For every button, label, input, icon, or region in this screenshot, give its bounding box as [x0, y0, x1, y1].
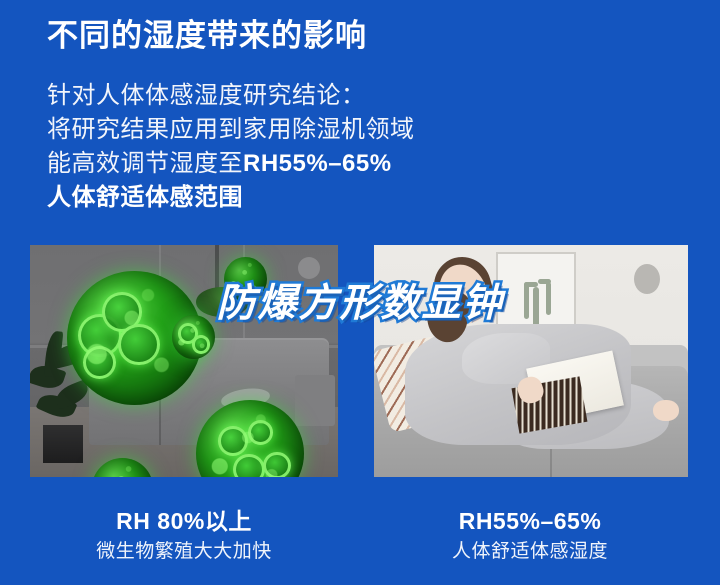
- wall-knob: [634, 264, 660, 294]
- lead-line-1: 针对人体体感湿度研究结论：: [47, 79, 477, 113]
- microbe-sphere: [224, 257, 267, 301]
- lead-line-2: 将研究结果应用到家用除湿机领域: [47, 113, 477, 147]
- microbe-cell: [233, 454, 265, 477]
- microbe-cell: [218, 426, 248, 455]
- microbe-sphere: [172, 315, 215, 359]
- caption-sub-label: 人体舒适体感湿度: [370, 539, 690, 565]
- caption-sub-label: 微生物繁殖大大加快: [24, 539, 344, 565]
- caption-main-label: RH55%–65%: [370, 506, 690, 536]
- microbe-cell: [178, 323, 199, 344]
- photo-row: [0, 245, 720, 477]
- microbe-cell: [102, 292, 142, 332]
- living-room-gray-scene: [30, 245, 338, 477]
- microbe-cell: [78, 314, 122, 358]
- microbe-cell: [83, 346, 116, 379]
- microbe-sphere: [196, 400, 304, 477]
- caption-high-humidity: RH 80%以上 微生物繁殖大大加快: [24, 506, 344, 565]
- wall-knob: [298, 257, 320, 279]
- microbe-sphere: [92, 458, 154, 477]
- microbe-cell: [118, 324, 159, 365]
- page-title: 不同的湿度带来的影响: [47, 17, 367, 55]
- cactus-arm: [524, 282, 529, 319]
- person-foot: [653, 400, 678, 421]
- humidity-infographic-poster: 不同的湿度带来的影响 针对人体体感湿度研究结论： 将研究结果应用到家用除湿机领域…: [0, 0, 720, 585]
- living-room-bright-scene: [374, 245, 688, 477]
- microbe-cell: [192, 335, 211, 354]
- photo-comfort-humidity: [374, 245, 688, 477]
- cactus-arm: [546, 282, 551, 315]
- cactus-arm: [538, 279, 552, 284]
- microbe-cell: [248, 420, 273, 445]
- lead-paragraph: 针对人体体感湿度研究结论： 将研究结果应用到家用除湿机领域 能高效调节湿度至RH…: [47, 79, 477, 215]
- cactus-arm: [524, 282, 538, 287]
- pendant-lamp-cord: [215, 245, 219, 291]
- lead-line-3-highlight: RH55%–65%: [243, 150, 392, 177]
- caption-main-label: RH 80%以上: [24, 506, 344, 536]
- caption-comfort-humidity: RH55%–65% 人体舒适体感湿度: [370, 506, 690, 565]
- plant-pot: [43, 425, 83, 463]
- lead-line-4: 人体舒适体感范围: [47, 181, 477, 215]
- microbe-cell: [263, 452, 291, 477]
- photo-high-humidity: [30, 245, 338, 477]
- lead-line-3: 能高效调节湿度至RH55%–65%: [47, 147, 477, 181]
- lead-line-3-prefix: 能高效调节湿度至: [47, 150, 243, 177]
